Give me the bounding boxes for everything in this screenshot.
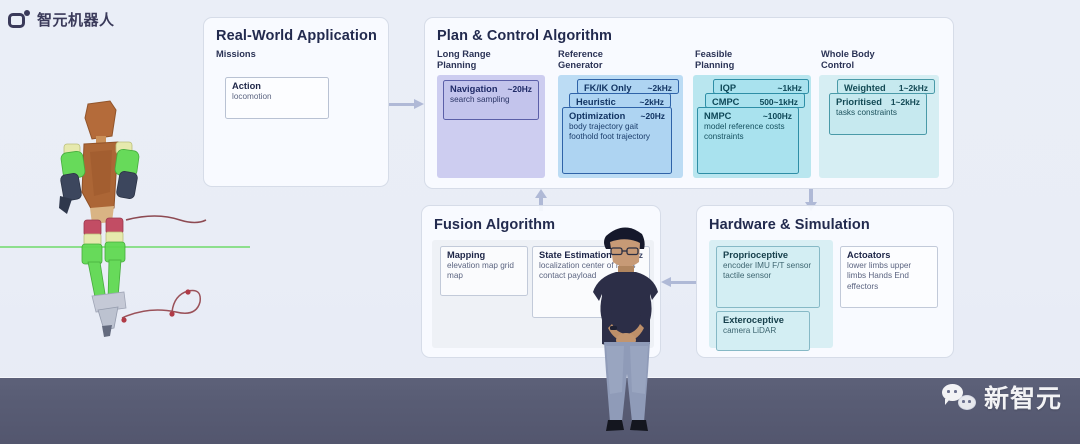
card-prioritised[interactable]: Prioritised 1~2kHz tasks constraints xyxy=(829,93,927,135)
panel-title-real-world: Real-World Application xyxy=(216,28,377,44)
card-navigation[interactable]: Navigation ~20Hz search sampling xyxy=(443,80,539,120)
panel-real-world-application: Real-World Application Missions Action l… xyxy=(203,17,389,187)
card-mapping-name: Mapping xyxy=(447,250,485,260)
card-proprioceptive-name: Proprioceptive xyxy=(723,250,788,260)
card-fkik-only-name: FK/IK Only xyxy=(584,83,632,93)
robot-figure-icon xyxy=(48,96,208,346)
card-prioritised-body: tasks constraints xyxy=(836,108,920,118)
card-navigation-freq: ~20Hz xyxy=(508,84,532,94)
card-actoators-body: lower limbs upper limbs Hands End effect… xyxy=(847,261,931,292)
section-label-missions: Missions xyxy=(216,49,256,60)
card-mapping[interactable]: Mapping elevation map grid map xyxy=(440,246,528,296)
card-fkik-only-freq: ~2kHz xyxy=(648,83,672,93)
panel-title-hardware: Hardware & Simulation xyxy=(709,217,870,233)
wechat-icon xyxy=(942,384,976,410)
robot-simulation-render xyxy=(48,96,208,346)
card-nmpc-freq: ~100Hz xyxy=(763,111,792,121)
card-iqp-name: IQP xyxy=(720,83,736,93)
card-optimization-body: body trajectory gait foothold foot traje… xyxy=(569,122,665,143)
brand-wordmark: 智元机器人 xyxy=(37,9,115,30)
card-iqp[interactable]: IQP ~1kHz xyxy=(713,79,809,94)
card-nmpc-name: NMPC xyxy=(704,111,731,121)
card-cmpc-freq: 500~1kHz xyxy=(760,97,798,107)
card-action[interactable]: Action locomotion xyxy=(225,77,329,119)
presenter-person xyxy=(580,222,672,434)
card-heuristic-name: Heuristic xyxy=(576,97,616,107)
card-optimization-name: Optimization xyxy=(569,111,625,121)
card-weighted[interactable]: Weighted 1~2kHz xyxy=(837,79,935,94)
section-label-feasible-planning: Feasible Planning xyxy=(695,49,734,71)
card-fkik-only[interactable]: FK/IK Only ~2kHz xyxy=(577,79,679,94)
card-exteroceptive-name: Exteroceptive xyxy=(723,315,784,325)
card-navigation-body: search sampling xyxy=(450,95,532,105)
card-heuristic[interactable]: Heuristic ~2kHz xyxy=(569,93,671,108)
wechat-watermark: 新智元 xyxy=(942,379,1062,415)
card-nmpc-body: model reference costs constraints xyxy=(704,122,792,143)
section-label-reference-generator: Reference Generator xyxy=(558,49,603,71)
card-action-name: Action xyxy=(232,81,261,91)
section-label-whole-body-control: Whole Body Control xyxy=(821,49,875,71)
card-nmpc[interactable]: NMPC ~100Hz model reference costs constr… xyxy=(697,107,799,174)
card-actoators-name: Actoators xyxy=(847,250,890,260)
card-prioritised-name: Prioritised xyxy=(836,97,882,107)
stage-floor xyxy=(0,378,1080,444)
card-mapping-body: elevation map grid map xyxy=(447,261,521,282)
card-proprioceptive[interactable]: Proprioceptive encoder IMU F/T sensor ta… xyxy=(716,246,820,308)
card-cmpc-name: CMPC xyxy=(712,97,739,107)
card-exteroceptive[interactable]: Exteroceptive camera LiDAR xyxy=(716,311,810,351)
card-optimization[interactable]: Optimization ~20Hz body trajectory gait … xyxy=(562,107,672,174)
card-actoators[interactable]: Actoators lower limbs upper limbs Hands … xyxy=(840,246,938,308)
card-action-body: locomotion xyxy=(232,92,322,102)
card-navigation-name: Navigation xyxy=(450,84,498,94)
card-iqp-freq: ~1kHz xyxy=(778,83,802,93)
arrow-realworld-to-plan xyxy=(389,99,425,109)
panel-plan-control-algorithm: Plan & Control Algorithm Long Range Plan… xyxy=(424,17,954,189)
card-weighted-freq: 1~2kHz xyxy=(899,83,928,93)
card-exteroceptive-body: camera LiDAR xyxy=(723,326,803,336)
agibot-brand-logo: 智元机器人 xyxy=(8,9,115,30)
card-weighted-name: Weighted xyxy=(844,83,886,93)
section-label-long-range-planning: Long Range Planning xyxy=(437,49,491,71)
card-prioritised-freq: 1~2kHz xyxy=(891,97,920,107)
agibot-logo-icon xyxy=(8,10,30,30)
watermark-text: 新智元 xyxy=(984,379,1062,415)
card-cmpc[interactable]: CMPC 500~1kHz xyxy=(705,93,805,108)
panel-title-fusion: Fusion Algorithm xyxy=(434,217,555,233)
card-proprioceptive-body: encoder IMU F/T sensor tactile sensor xyxy=(723,261,813,282)
card-heuristic-freq: ~2kHz xyxy=(640,97,664,107)
panel-hardware-simulation: Hardware & Simulation Proprioceptive enc… xyxy=(696,205,954,358)
panel-title-plan-control: Plan & Control Algorithm xyxy=(437,28,612,44)
card-optimization-freq: ~20Hz xyxy=(641,111,665,121)
